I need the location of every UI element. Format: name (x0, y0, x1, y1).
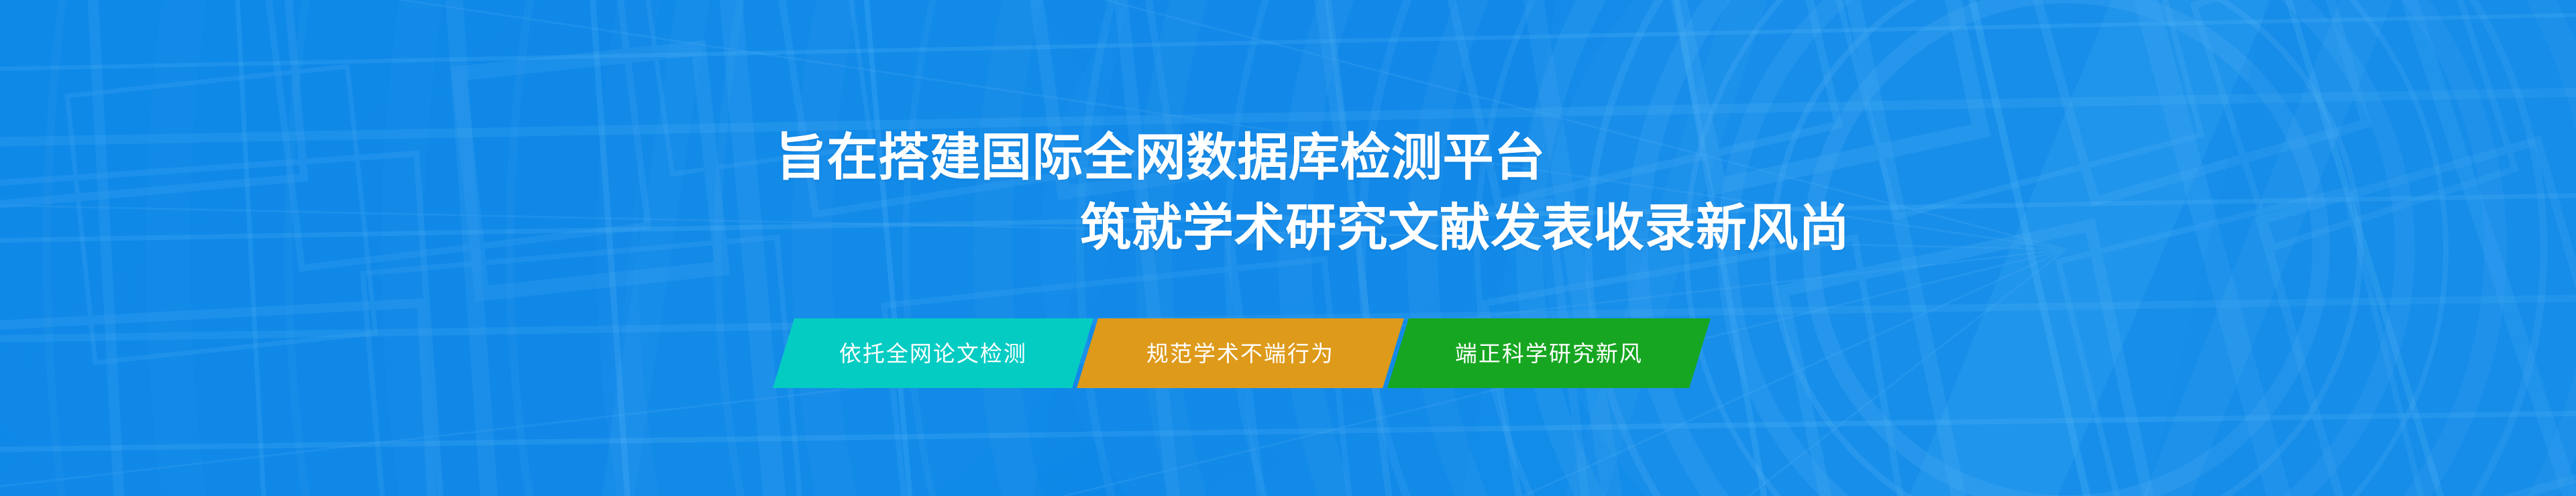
badge-duan-zheng-ke-xue-yan-jiu-xin-feng[interactable]: 端正科学研究新风 (1387, 318, 1711, 388)
background-rect-frames-left (0, 0, 441, 496)
badge-quan-wang-lun-wen-jian-ce[interactable]: 依托全网论文检测 (773, 318, 1093, 388)
background-rect-frames-midleft (264, 0, 872, 496)
hero-banner: 旨在搭建国际全网数据库检测平台 筑就学术研究文献发表收录新风尚 依托全网论文检测… (0, 0, 2576, 496)
badge-label: 端正科学研究新风 (1455, 343, 1643, 365)
headline-line-2: 筑就学术研究文献发表收录新风尚 (1080, 203, 1850, 254)
badge-label: 依托全网论文检测 (839, 343, 1027, 365)
feature-badge-strip: 依托全网论文检测 规范学术不端行为 端正科学研究新风 (784, 318, 1700, 388)
badge-label: 规范学术不端行为 (1146, 343, 1334, 365)
badge-gui-fan-xue-shu-bu-duan-xing-wei[interactable]: 规范学术不端行为 (1077, 318, 1404, 388)
headline-line-1: 旨在搭建国际全网数据库检测平台 (775, 133, 1546, 184)
